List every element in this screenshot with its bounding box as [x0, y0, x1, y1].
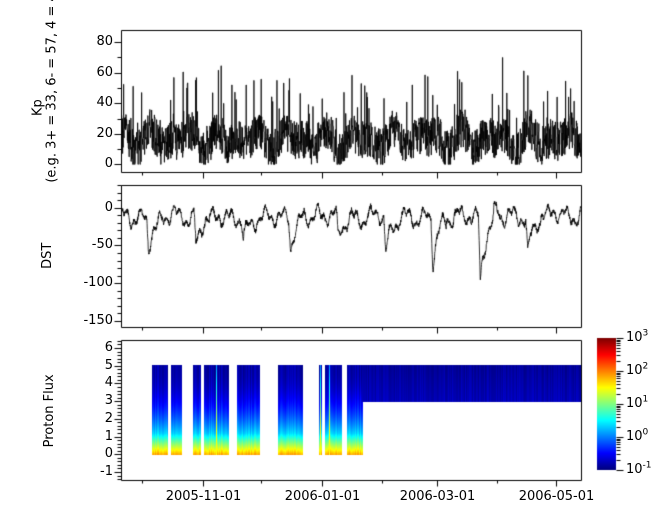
dst-axis-label: DST — [41, 196, 55, 316]
kp-axis-label-line1: Kp — [31, 33, 45, 183]
figure-root: Kp (e.g. 3+ = 33, 6- = 57, 4 = 40, etc.)… — [0, 0, 665, 523]
